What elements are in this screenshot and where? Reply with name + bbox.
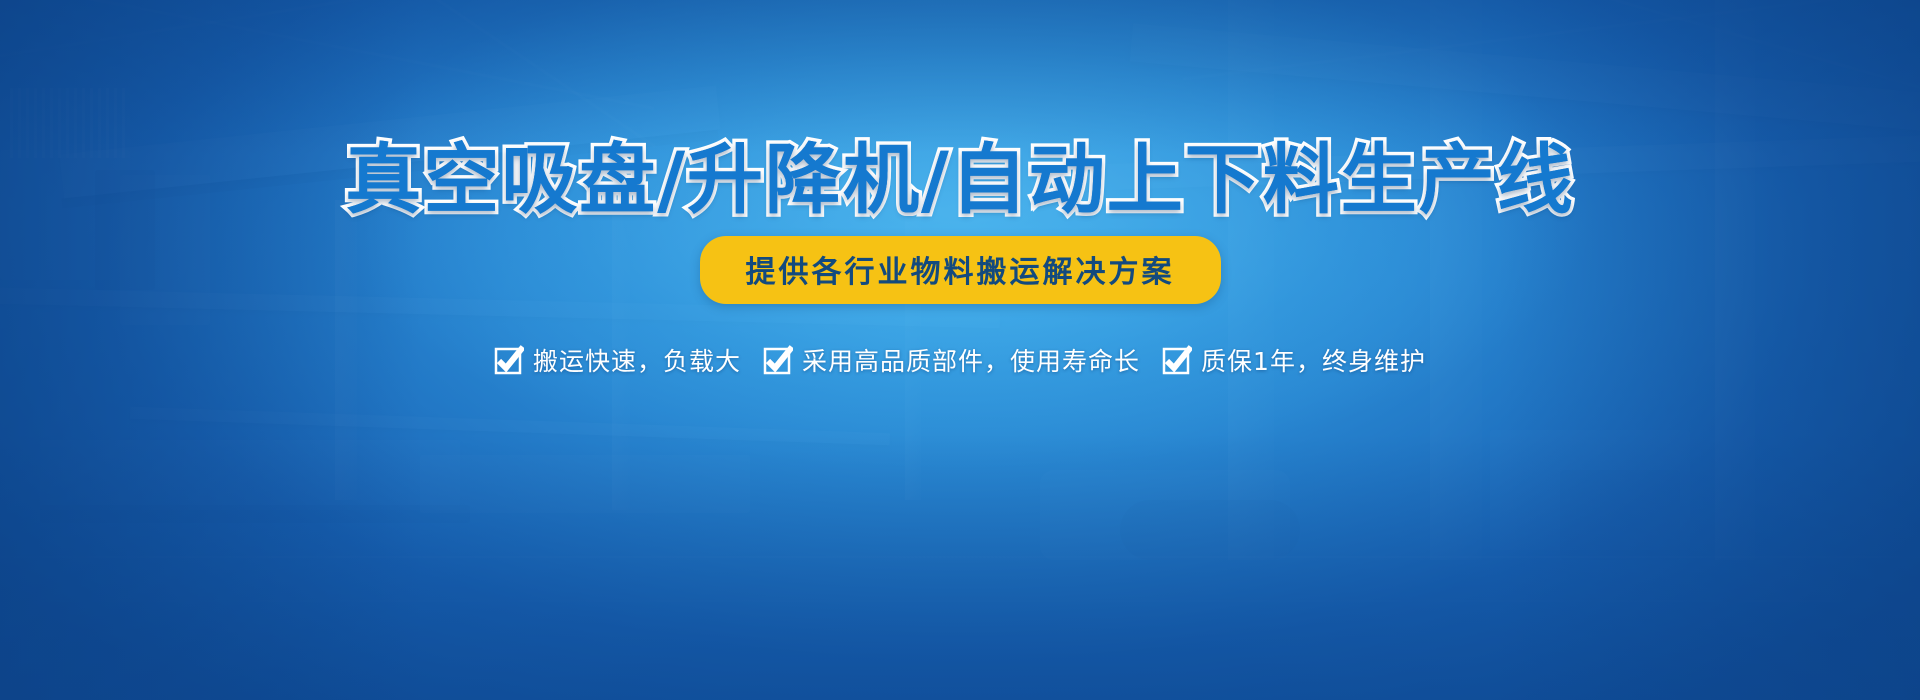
check-box-icon [763, 345, 793, 375]
feature-label: 搬运快速，负载大 [533, 342, 741, 378]
page-title-fill: 真空吸盘/升降机/自动上下料生产线 [0, 118, 1920, 228]
feature-label: 采用高品质部件，使用寿命长 [802, 342, 1140, 378]
subtitle-badge: 提供各行业物料搬运解决方案 [700, 236, 1221, 304]
check-box-icon [1162, 345, 1192, 375]
feature-item: 质保1年，终身维护 [1162, 342, 1426, 378]
feature-list: 搬运快速，负载大 采用高品质部件，使用寿命长 [0, 342, 1920, 378]
feature-label: 质保1年，终身维护 [1201, 342, 1426, 378]
feature-item: 采用高品质部件，使用寿命长 [763, 342, 1140, 378]
check-box-icon [494, 345, 524, 375]
hero-banner: 真空吸盘/升降机/自动上下料生产线 真空吸盘/升降机/自动上下料生产线 提供各行… [0, 0, 1920, 700]
feature-item: 搬运快速，负载大 [494, 342, 741, 378]
banner-content: 真空吸盘/升降机/自动上下料生产线 真空吸盘/升降机/自动上下料生产线 提供各行… [0, 0, 1920, 700]
subtitle-container: 提供各行业物料搬运解决方案 [0, 236, 1920, 304]
